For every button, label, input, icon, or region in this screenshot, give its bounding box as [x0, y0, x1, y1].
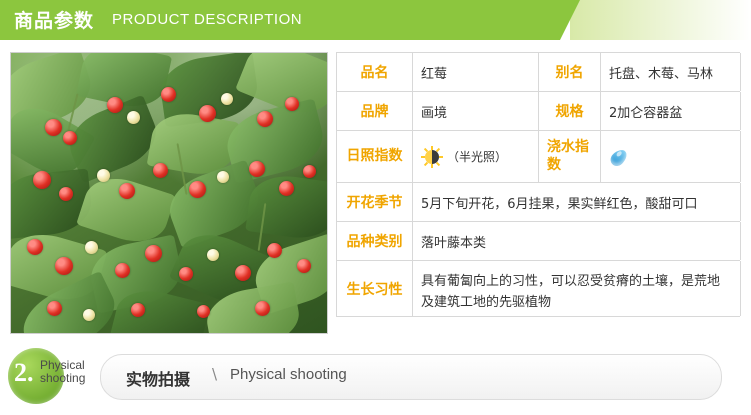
berry-shape — [115, 263, 130, 278]
berry-shape — [303, 165, 316, 178]
section-footer: 2. Physical shooting 实物拍摄 \ Physical sho… — [0, 338, 751, 415]
table-row: 开花季节 5月下旬开花，6月挂果，果实鲜红色，酸甜可口 — [337, 183, 740, 222]
berry-shape — [267, 243, 282, 258]
cell-value-sunlight: （半光照） — [413, 131, 539, 182]
berry-shape — [153, 163, 168, 178]
section-en-line2: shooting — [40, 371, 85, 385]
berry-shape — [85, 241, 98, 254]
berry-shape — [221, 93, 233, 105]
berry-shape — [285, 97, 299, 111]
berry-shape — [189, 181, 206, 198]
berry-shape — [59, 187, 73, 201]
cell-label-flower-season: 开花季节 — [337, 183, 413, 221]
cell-label-sunlight-line1: 日照指数 — [347, 148, 403, 166]
section-en-line1: Physical — [40, 358, 85, 372]
page-title-en: PRODUCT DESCRIPTION — [112, 11, 302, 28]
berry-shape — [199, 105, 216, 122]
berry-shape — [161, 87, 176, 102]
berry-shape — [45, 119, 62, 136]
cell-value-watering — [601, 131, 741, 182]
cell-label-growth-habit: 生长习性 — [337, 261, 413, 316]
table-row: 生长习性 具有葡匐向上的习性，可以忍受贫瘠的土壤，是荒地及建筑工地的先驱植物 — [337, 261, 740, 317]
cell-value-sunlight-text: （半光照） — [447, 148, 507, 165]
cell-value-growth-habit: 具有葡匐向上的习性，可以忍受贫瘠的土壤，是荒地及建筑工地的先驱植物 — [413, 261, 741, 316]
product-photo — [10, 52, 328, 334]
berry-shape — [127, 111, 140, 124]
water-drop-icon — [608, 146, 630, 168]
section-title-cn: 实物拍摄 — [126, 366, 190, 390]
header-gradient — [570, 0, 751, 40]
berry-shape — [179, 267, 193, 281]
cell-value-spec: 2加仑容器盆 — [601, 92, 741, 130]
cell-value-brand: 画境 — [413, 92, 539, 130]
cell-label-name: 品名 — [337, 53, 413, 91]
cell-label-watering-line1: 浇水指数 — [547, 139, 592, 174]
page-header: 商品参数 PRODUCT DESCRIPTION — [0, 0, 751, 40]
berry-shape — [145, 245, 162, 262]
berry-shape — [207, 249, 219, 261]
cell-value-growth-habit-text: 具有葡匐向上的习性，可以忍受贫瘠的土壤，是荒地及建筑工地的先驱植物 — [421, 264, 732, 314]
berry-shape — [63, 131, 77, 145]
berry-shape — [119, 183, 135, 199]
half-sun-icon — [421, 146, 443, 168]
spec-table: 品名 红莓 别名 托盘、木莓、马林 品牌 画境 规格 2加仑容器盆 日照指数 — [336, 52, 740, 317]
section-title-en: Physical shooting — [230, 366, 347, 383]
cell-label-watering: 浇水指数 — [539, 131, 601, 182]
berry-shape — [279, 181, 294, 196]
table-row: 日照指数 （半光照） 浇水指数 — [337, 131, 740, 183]
cell-label-alias: 别名 — [539, 53, 601, 91]
berry-shape — [297, 259, 311, 273]
berry-shape — [107, 97, 123, 113]
section-title-separator: \ — [212, 365, 217, 383]
berry-shape — [257, 111, 273, 127]
berry-shape — [217, 171, 229, 183]
berry-shape — [97, 169, 110, 182]
berry-shape — [197, 305, 210, 318]
table-row: 品牌 画境 规格 2加仑容器盆 — [337, 92, 740, 131]
cell-label-spec: 规格 — [539, 92, 601, 130]
cell-label-sunlight: 日照指数 — [337, 131, 413, 182]
cell-value-category: 落叶藤本类 — [413, 222, 741, 260]
cell-label-brand: 品牌 — [337, 92, 413, 130]
section-title-pill — [100, 354, 722, 400]
table-row: 品名 红莓 别名 托盘、木莓、马林 — [337, 53, 740, 92]
berry-shape — [255, 301, 270, 316]
section-number: 2. — [14, 358, 34, 388]
berry-shape — [131, 303, 145, 317]
berry-shape — [47, 301, 62, 316]
page-title-cn: 商品参数 — [14, 6, 94, 33]
berry-shape — [249, 161, 265, 177]
cell-value-flower-season: 5月下旬开花，6月挂果，果实鲜红色，酸甜可口 — [413, 183, 741, 221]
berry-shape — [33, 171, 51, 189]
berry-shape — [83, 309, 95, 321]
table-row: 品种类别 落叶藤本类 — [337, 222, 740, 261]
berry-shape — [55, 257, 73, 275]
cell-label-category: 品种类别 — [337, 222, 413, 260]
berry-shape — [27, 239, 43, 255]
cell-value-alias: 托盘、木莓、马林 — [601, 53, 741, 91]
cell-value-name: 红莓 — [413, 53, 539, 91]
berry-shape — [235, 265, 251, 281]
